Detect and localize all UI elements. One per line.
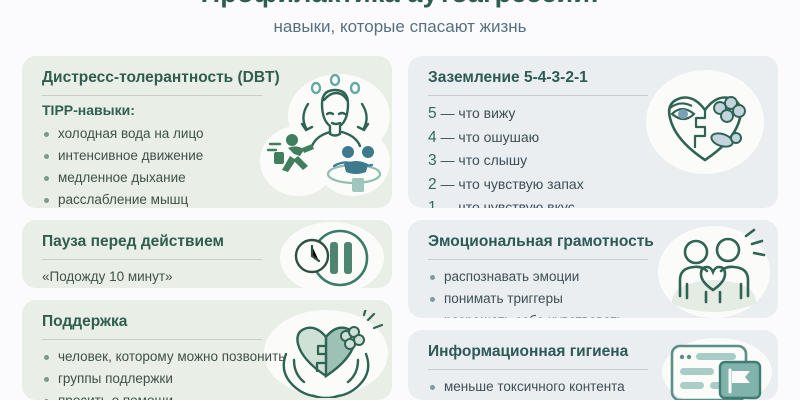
heading-divider — [42, 339, 262, 340]
list-item: медленное дыхание — [42, 167, 376, 189]
card-heading: Дистресс-толерантность (DBT) — [42, 68, 376, 95]
emotional-literacy-list: распознавать эмоции понимать триггеры ра… — [428, 266, 762, 318]
tipp-subheading: TIPP-навыки: — [42, 102, 376, 118]
heading-divider — [428, 95, 648, 96]
list-item: 4 — что ошушаю — [428, 126, 762, 150]
card-heading: Информационная гигиена — [428, 342, 762, 369]
list-item: интенсивное движение — [42, 145, 376, 167]
card-support: Поддержка человек, которому можно позвон… — [22, 300, 392, 400]
card-emotional-literacy: Эмоциональная грамотность распознавать э… — [408, 220, 778, 318]
page-title: Профилактика аутоагрессии: — [0, 0, 800, 10]
step-text: — что чувствую запах — [441, 176, 584, 192]
tipp-skill-list: холодная вода на лицо интенсивное движен… — [42, 123, 376, 208]
page-subtitle: навыки, которые спасают жизнь — [0, 14, 800, 40]
list-item: расслабление мышц — [42, 189, 376, 208]
list-item: просить о помощи — [42, 390, 376, 400]
left-column: Дистресс-толерантность (DBT) TIPP-навыки… — [22, 56, 392, 400]
heading-divider — [42, 259, 262, 260]
grounding-steps-list: 5 — что вижу 4 — что ошушаю 3 — что слыш… — [428, 102, 762, 208]
step-number: 4 — [428, 129, 437, 146]
list-item: понимать триггеры — [428, 288, 762, 310]
right-column: Заземление 5-4-3-2-1 5 — что вижу 4 — чт… — [408, 56, 778, 400]
card-heading: Заземление 5-4-3-2-1 — [428, 68, 762, 95]
support-list: человек, которому можно позвонить группы… — [42, 346, 376, 400]
heading-divider — [42, 95, 262, 96]
list-item: меньше токсичного контента — [428, 376, 762, 398]
step-text: — что ошушаю — [441, 129, 540, 145]
step-text: — что слышу — [441, 152, 528, 168]
information-hygiene-list: меньше токсичного контента — [428, 376, 762, 398]
step-number: 2 — [428, 176, 437, 193]
list-item: 1 — что чувствую вкус — [428, 196, 762, 208]
step-number: 1 — [428, 199, 437, 208]
card-heading: Эмоциональная грамотность — [428, 232, 762, 259]
list-item: 3 — что слышу — [428, 149, 762, 173]
heading-divider — [428, 369, 648, 370]
card-distress-tolerance: Дистресс-толерантность (DBT) TIPP-навыки… — [22, 56, 392, 208]
card-pause-before-action: Пауза перед действием «Подожду 10 минут» — [22, 220, 392, 288]
page-header: Профилактика аутоагрессии: навыки, котор… — [0, 0, 800, 40]
list-item: 5 — что вижу — [428, 102, 762, 126]
card-heading: Поддержка — [42, 312, 376, 339]
list-item: группы подлержки — [42, 368, 376, 390]
card-grounding: Заземление 5-4-3-2-1 5 — что вижу 4 — чт… — [408, 56, 778, 208]
list-item: 2 — что чувствую запах — [428, 173, 762, 197]
step-text: — что вижу — [441, 105, 516, 121]
card-heading: Пауза перед действием — [42, 232, 376, 259]
list-item: распознавать эмоции — [428, 266, 762, 288]
list-item: холодная вода на лицо — [42, 123, 376, 145]
card-information-hygiene: Информационная гигиена меньше токсичного… — [408, 330, 778, 400]
step-number: 3 — [428, 152, 437, 169]
list-item: разрешать себе чувствовать — [428, 310, 762, 318]
list-item: человек, которому можно позвонить — [42, 346, 376, 368]
step-number: 5 — [428, 105, 437, 122]
pause-quote: «Подожду 10 минут» — [42, 266, 376, 288]
step-text: — что чувствую вкус — [441, 199, 575, 208]
heading-divider — [428, 259, 648, 260]
